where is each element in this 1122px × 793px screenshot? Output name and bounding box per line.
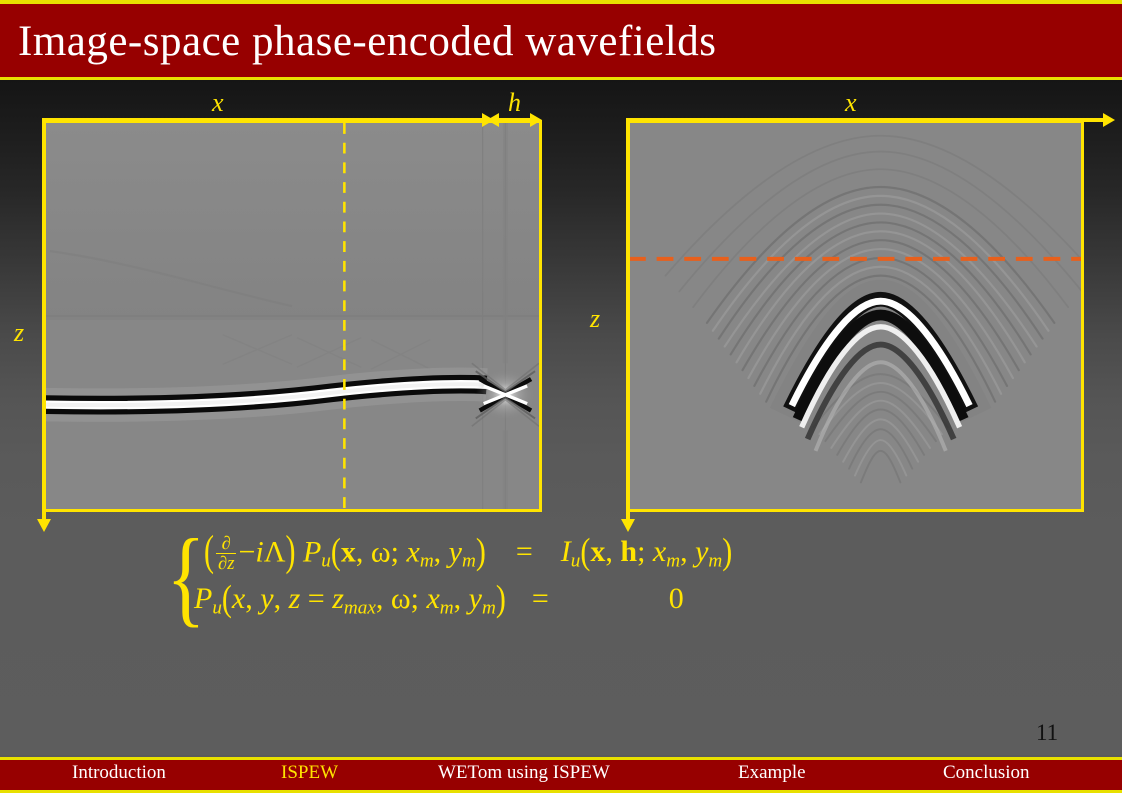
arg-ym: y [449,535,462,568]
source-I: I [561,535,571,568]
equation-row2-equals: = [532,582,549,616]
rhs-arg-ym: y [695,535,708,568]
left-panel-h-axis-line [497,118,531,122]
semicolon: ; [391,535,407,568]
row2-arg-ym-subscript: m [482,597,496,618]
right-panel-x-axis-line [626,118,1105,122]
rhs-vector-x: x [590,535,605,568]
rhs-open-paren: ( [580,531,590,574]
arg-xm: x [406,535,419,568]
row2-arg-zmax-subscript: max [344,597,376,618]
row2-args-open-paren: ( [222,578,232,621]
fraction-denominator: ∂z [216,554,236,573]
partial-derivative-fraction: ∂∂z [216,534,236,573]
equation-row1-lhs: (∂∂z−iΛ) Pu(x, ω; xm, ym) [204,534,486,573]
rhs-vector-h: h [620,535,637,568]
right-panel-z-axis-arrowhead [621,519,635,532]
row2-comma-3: , [376,582,391,615]
left-panel-h-axis-arrowhead-right [530,113,542,127]
lambda-symbol: Λ [264,535,286,568]
equation-row2-lhs: Pu(x, y, z = zmax, ω; xm, ym) [194,582,506,619]
rhs-arg-ym-subscript: m [708,551,722,572]
left-panel-x-axis-line [42,118,484,122]
rhs-arg-xm: x [653,535,666,568]
left-panel-z-axis-line [42,120,46,520]
left-panel-z-axis-label: z [14,318,24,348]
arg-xm-subscript: m [420,551,434,572]
footer-nav-item-wetom-using-ispew[interactable]: WETom using ISPEW [438,762,610,784]
left-panel-h-axis-label: h [508,88,521,118]
right-panel-image [629,123,1081,509]
comma-2: , [434,535,449,568]
row2-omega: ω [391,582,411,615]
equation-row-1: (∂∂z−iΛ) Pu(x, ω; xm, ym) = Iu(x, h; xm,… [204,534,732,573]
row2-arg-xm: x [426,582,439,615]
args-close-paren: ) [476,531,486,574]
operator-P-subscript: u [321,551,331,572]
row2-operator-P-subscript: u [212,597,222,618]
left-panel-z-axis-arrowhead [37,519,51,532]
right-panel-x-axis-label: x [845,88,857,118]
arg-ym-subscript: m [462,551,476,572]
row2-comma-4: , [454,582,469,615]
minus-sign: − [238,535,255,568]
row2-comma-2: , [274,582,289,615]
row2-arg-xm-subscript: m [440,597,454,618]
row2-semicolon: ; [411,582,427,615]
comma-1: , [356,535,371,568]
vector-x: x [341,535,356,568]
equation-row-2: Pu(x, y, z = zmax, ω; xm, ym) = 0 [194,582,684,619]
right-panel-x-axis-arrowhead [1103,113,1115,127]
row2-operator-P: P [194,582,212,615]
title-banner: Image-space phase-encoded wavefields [0,0,1122,80]
footer-nav-item-introduction[interactable]: Introduction [72,762,166,784]
row2-arg-x: x [232,582,245,615]
equation-row2-rhs: 0 [669,582,684,616]
rhs-comma-2: , [680,535,695,568]
image-space-wavefield-panel[interactable] [42,120,542,512]
footer-nav-item-conclusion[interactable]: Conclusion [943,762,1030,784]
left-panel-image [45,123,539,509]
row2-inner-equals: = [300,582,332,615]
row2-arg-zmax: z [332,582,344,615]
row2-comma-1: , [245,582,260,615]
row2-arg-z: z [289,582,301,615]
equation-row1-equals: = [516,535,533,569]
footer-nav-item-ispew[interactable]: ISPEW [281,762,338,784]
rhs-semicolon: ; [637,535,653,568]
rhs-arg-xm-subscript: m [666,551,680,572]
open-paren: ( [204,528,214,577]
right-panel-z-axis-line [626,120,630,520]
operator-P: P [303,535,321,568]
rhs-close-paren: ) [722,531,732,574]
right-panel-z-axis-label: z [590,304,600,334]
phase-encoded-wavefield-panel[interactable] [626,120,1084,512]
row2-arg-y: y [260,582,273,615]
imaginary-unit: i [255,535,263,568]
equation-row1-rhs: Iu(x, h; xm, ym) [561,535,733,572]
row2-arg-ym: y [469,582,482,615]
rhs-comma-1: , [605,535,620,568]
page-title: Image-space phase-encoded wavefields [18,13,716,71]
source-I-subscript: u [571,551,581,572]
fraction-numerator: ∂ [216,534,236,554]
page-number: 11 [1036,720,1058,746]
row2-args-close-paren: ) [496,578,506,621]
args-open-paren: ( [331,531,341,574]
left-panel-x-axis-label: x [212,88,224,118]
footer-nav-item-example[interactable]: Example [738,762,806,784]
omega-symbol: ω [371,535,391,568]
close-paren: ) [285,528,295,577]
